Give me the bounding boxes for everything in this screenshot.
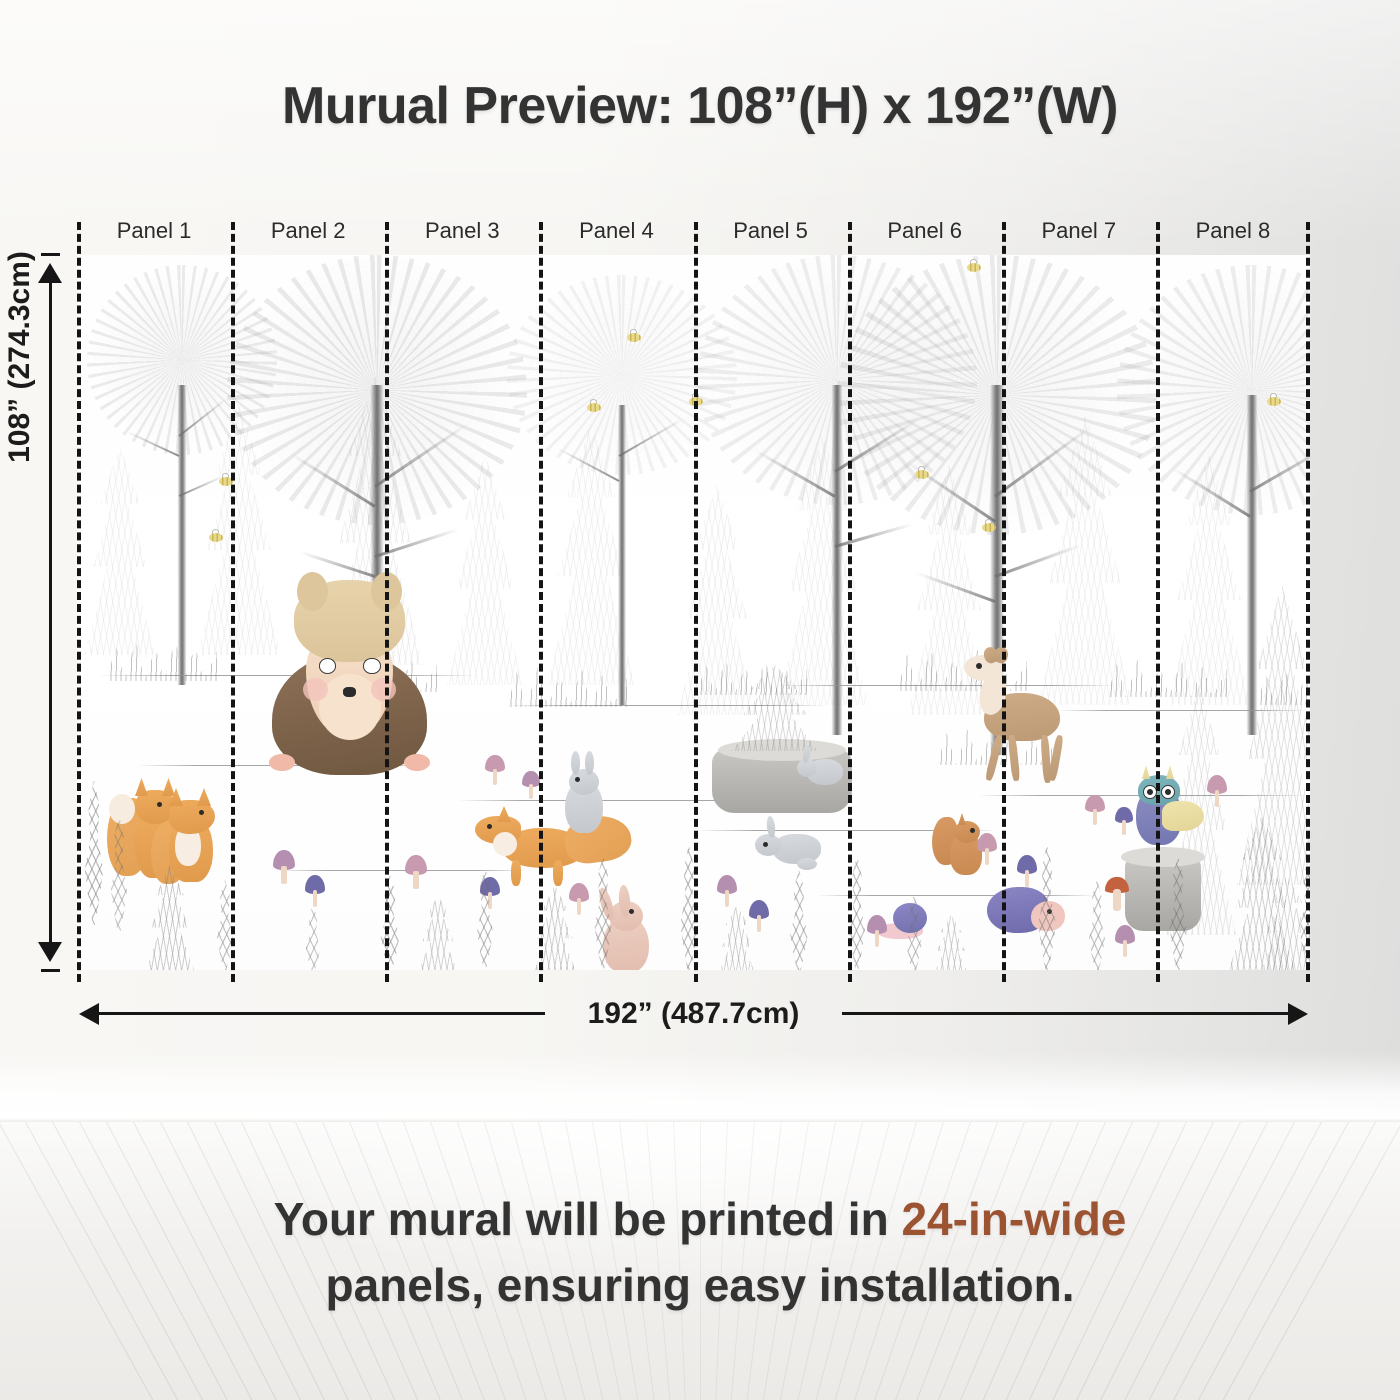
mushroom <box>485 755 505 785</box>
mushroom <box>569 883 589 915</box>
bear-cheek-left <box>303 678 328 701</box>
wall-bottom-fade <box>0 1052 1400 1122</box>
page-title: Murual Preview: 108”(H) x 192”(W) <box>0 76 1400 136</box>
panel-label-3: Panel 3 <box>385 215 539 247</box>
rabbit-eye <box>575 777 580 782</box>
owl <box>1130 767 1204 849</box>
bear <box>272 580 427 775</box>
hopping-rabbit-eye <box>763 842 768 847</box>
height-dimension-label: 108” (274.3cm) <box>3 77 37 637</box>
mural-preview-artwork <box>77 255 1310 970</box>
mushroom-stem <box>875 930 880 947</box>
mushroom <box>1085 795 1105 825</box>
fox-eye-back <box>157 802 162 807</box>
mushroom <box>405 855 427 889</box>
bear-paw-right <box>404 754 430 772</box>
fox-tail-tip-back <box>109 794 135 824</box>
deer-leg-1 <box>985 735 1004 782</box>
running-fox-leg-2 <box>553 860 563 886</box>
fox-ear-back-r <box>162 778 175 796</box>
panel-label-1: Panel 1 <box>77 215 231 247</box>
bee <box>209 533 223 542</box>
grey-rabbit-stump <box>797 747 845 789</box>
caption-accent: 24-in-wide <box>901 1193 1126 1245</box>
bear-cheek-right <box>371 678 396 701</box>
running-fox-chest <box>493 832 517 856</box>
mushroom-stem <box>493 769 498 785</box>
mushroom-stem <box>313 890 318 907</box>
bee <box>915 470 929 479</box>
mushroom <box>1115 807 1133 835</box>
panel-label-8: Panel 8 <box>1156 215 1310 247</box>
panel-label-2: Panel 2 <box>231 215 385 247</box>
deer-leg-2 <box>1008 735 1021 782</box>
mushroom <box>273 850 295 884</box>
sketch-tree <box>1117 265 1310 735</box>
squirrel-eye <box>970 828 975 833</box>
bee-body <box>967 263 981 272</box>
bear-eye-left <box>319 658 336 674</box>
fox-eye-front <box>199 810 204 815</box>
caption-line2: panels, ensuring easy installation. <box>325 1259 1074 1311</box>
mushroom <box>305 875 325 907</box>
height-dimension-line <box>49 269 52 956</box>
mushroom-stem <box>529 784 533 799</box>
hopping-rabbit-leg <box>797 858 817 870</box>
bee <box>967 263 981 272</box>
owl-tuft-right <box>1166 765 1174 779</box>
mushroom-stem <box>281 866 286 884</box>
owl-tuft-left <box>1142 765 1150 779</box>
bear-nose <box>343 687 355 697</box>
mushroom <box>977 833 997 865</box>
width-dimension-line-right <box>842 1012 1292 1015</box>
mushroom-stem <box>725 890 730 907</box>
bear-ear-left <box>297 572 328 611</box>
height-arrow-up <box>38 263 62 283</box>
mushroom <box>1115 925 1135 957</box>
mushroom <box>1207 775 1227 807</box>
mushroom-stem <box>757 915 762 932</box>
snail-shell <box>893 903 927 933</box>
bee-body <box>915 470 929 479</box>
caption-line1-before: Your mural will be printed in <box>274 1193 902 1245</box>
bee-body <box>587 403 601 412</box>
bee-body <box>982 523 996 532</box>
owl-stump <box>1117 845 1209 931</box>
mushroom-stem <box>1122 820 1126 835</box>
mushroom <box>522 771 540 799</box>
mushroom <box>1017 855 1037 887</box>
bee-body <box>1267 397 1281 406</box>
mushroom-stem <box>1123 940 1128 957</box>
deer-leg-4 <box>1048 735 1064 782</box>
panel-label-7: Panel 7 <box>1002 215 1156 247</box>
bee <box>1267 397 1281 406</box>
owl-stump-trunk <box>1125 857 1201 931</box>
deer-eye <box>976 663 982 669</box>
fox-ear-back-l <box>135 778 148 796</box>
fox-ear-front-r <box>197 788 211 806</box>
bee <box>982 523 996 532</box>
mushroom-stem <box>985 848 990 865</box>
hopping-rabbit <box>755 820 823 874</box>
fox-pair <box>107 780 227 885</box>
bee-body <box>219 477 233 486</box>
panel-label-6: Panel 6 <box>848 215 1002 247</box>
bee-body <box>689 397 703 406</box>
bee-body <box>627 333 641 342</box>
panel-label-5: Panel 5 <box>694 215 848 247</box>
bear-eye-right <box>363 658 380 674</box>
owl-pupil-right <box>1165 789 1171 795</box>
height-tick-bottom <box>41 969 60 972</box>
mushroom-stem <box>577 898 582 915</box>
bee <box>219 477 233 486</box>
bee <box>689 397 703 406</box>
caption: Your mural will be printed in 24-in-wide… <box>0 1186 1400 1318</box>
owl-pupil-left <box>1147 789 1153 795</box>
mushroom-stem <box>1093 809 1098 825</box>
height-arrow-down <box>38 942 62 962</box>
owl-stump-top <box>1121 847 1205 867</box>
mushroom <box>749 900 769 932</box>
panel-label-row: Panel 1 Panel 2 Panel 3 Panel 4 Panel 5 … <box>77 215 1310 247</box>
width-arrow-right <box>1288 1003 1308 1025</box>
squirrel-ear <box>958 813 966 825</box>
height-tick-top <box>41 253 60 256</box>
running-fox-eye <box>487 824 492 829</box>
deer <box>962 655 1072 785</box>
mushroom-stem <box>413 871 418 889</box>
panel-label-4: Panel 4 <box>539 215 693 247</box>
bee <box>587 403 601 412</box>
stump-mushroom-cluster <box>1105 877 1129 911</box>
mushroom <box>867 915 887 947</box>
mushroom-stem <box>1025 870 1030 887</box>
stump-mushroom-stem <box>1113 889 1121 911</box>
hopping-rabbit-head <box>755 834 781 856</box>
bear-paw-left <box>269 754 295 772</box>
bee-body <box>209 533 223 542</box>
rabbit-ear-right <box>585 751 594 775</box>
pink-rabbit-eye <box>629 909 634 914</box>
width-dimension: 192” (487.7cm) <box>77 996 1310 1032</box>
rabbit-ear-left <box>571 751 580 775</box>
bear-muzzle <box>319 674 381 740</box>
grey-rabbit-standing <box>559 755 609 833</box>
bee <box>627 333 641 342</box>
mushroom-stem <box>1215 790 1220 807</box>
mushroom <box>717 875 737 907</box>
owl-wing <box>1162 801 1204 831</box>
running-fox-leg-1 <box>511 860 521 886</box>
